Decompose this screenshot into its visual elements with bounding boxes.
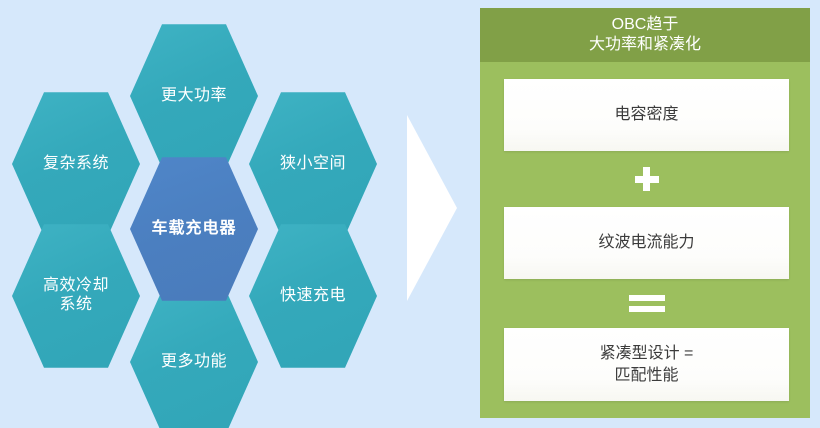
- green-summary-panel: OBC趋于 大功率和紧凑化 电容密度 纹波电流能力 紧凑型设计 = 匹配性能: [480, 8, 810, 418]
- equals-icon: [629, 295, 665, 312]
- summary-card-capacitance-density[interactable]: 电容密度: [504, 79, 789, 151]
- hex-node-top-label: 更大功率: [161, 87, 227, 106]
- summary-card-1-label: 电容密度: [614, 104, 678, 126]
- summary-card-compact-design[interactable]: 紧凑型设计 = 匹配性能: [504, 328, 789, 401]
- plus-icon: [635, 167, 659, 191]
- hex-node-bottom[interactable]: 更多功能: [130, 288, 258, 428]
- hex-node-top-right[interactable]: 狭小空间: [249, 90, 377, 238]
- hex-node-top-left[interactable]: 复杂系统: [12, 90, 140, 238]
- infographic-canvas: 更大功率 复杂系统 狭小空间 高效冷却 系统 快速充电 更多功能 车载充电器 O…: [0, 0, 820, 428]
- operator-equals-row: [504, 279, 789, 328]
- hex-node-bottom-right[interactable]: 快速充电: [249, 222, 377, 370]
- arrow-right-triangle-icon: [405, 115, 457, 301]
- hex-node-top[interactable]: 更大功率: [130, 22, 258, 170]
- hex-node-bottom-left-label: 高效冷却 系统: [43, 277, 109, 315]
- hex-node-bottom-label: 更多功能: [161, 353, 227, 372]
- hexagon-cluster-panel: 更大功率 复杂系统 狭小空间 高效冷却 系统 快速充电 更多功能 车载充电器: [0, 0, 470, 428]
- summary-card-2-label: 纹波电流能力: [598, 232, 694, 254]
- summary-card-3-label: 紧凑型设计 = 匹配性能: [600, 343, 694, 386]
- hex-node-top-left-label: 复杂系统: [43, 155, 109, 174]
- hex-node-bottom-right-label: 快速充电: [280, 287, 346, 306]
- operator-plus-row: [504, 151, 789, 207]
- hex-node-center-label: 车载充电器: [151, 220, 236, 239]
- green-panel-title: OBC趋于 大功率和紧凑化: [480, 8, 810, 62]
- green-panel-body: 电容密度 纹波电流能力 紧凑型设计 = 匹配性能: [480, 62, 810, 418]
- summary-card-ripple-current[interactable]: 纹波电流能力: [504, 207, 789, 279]
- hex-node-top-right-label: 狭小空间: [280, 155, 346, 174]
- hex-node-center[interactable]: 车载充电器: [130, 155, 258, 303]
- hex-node-bottom-left[interactable]: 高效冷却 系统: [12, 222, 140, 370]
